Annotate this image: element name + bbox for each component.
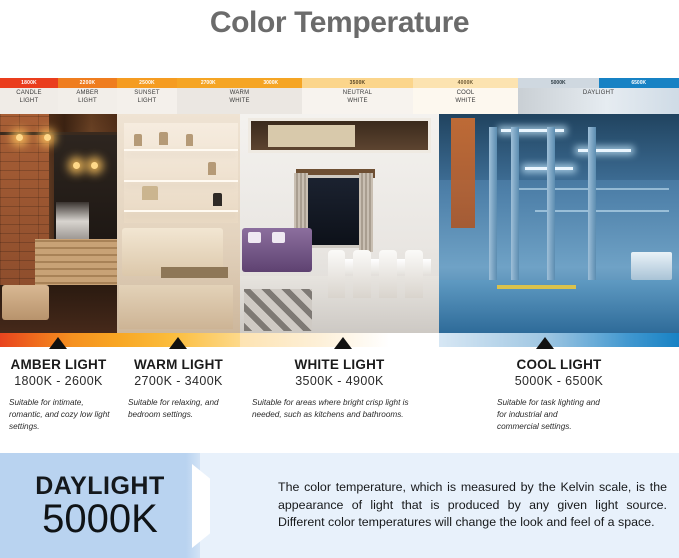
kelvin-segment-candle: 1800K CANDLE LIGHT <box>0 78 58 114</box>
kelvin-label-line2: LIGHT <box>76 98 98 106</box>
title-area: Color Temperature <box>0 0 679 78</box>
kelvin-value-row-warm: 2700K 3000K <box>177 78 302 88</box>
decor-object <box>159 132 168 145</box>
pointer-arrow-white-icon <box>334 337 352 349</box>
pointer-arrow-amber-icon <box>49 337 67 349</box>
leather-sofa <box>2 285 49 320</box>
support-column <box>547 127 555 285</box>
pendant-bulb-icon <box>44 134 51 141</box>
warm-white-lounge-photo <box>117 114 240 333</box>
decor-vase <box>213 193 222 206</box>
cushion <box>248 232 261 243</box>
kelvin-label-sunset: SUNSET LIGHT <box>117 88 177 114</box>
support-column <box>588 127 596 285</box>
warehouse-roof <box>439 114 679 180</box>
kelvin-segment-daylight: 5000K 6500K DAYLIGHT <box>518 78 679 114</box>
kelvin-value-2500k: 2500K <box>117 78 177 88</box>
gradient-segment-white <box>240 333 439 347</box>
kelvin-scale-strip: 1800K CANDLE LIGHT 2200K AMBER LIGHT 250… <box>0 78 679 114</box>
kelvin-label-line1: DAYLIGHT <box>583 90 614 98</box>
daylight-banner-left: DAYLIGHT 5000K <box>0 453 200 558</box>
infographic-page: Color Temperature 1800K CANDLE LIGHT 220… <box>0 0 679 558</box>
kelvin-label-line1: WARM <box>229 90 249 98</box>
category-title: WHITE LIGHT <box>240 357 439 373</box>
kelvin-label-line2: WHITE <box>455 98 475 106</box>
shelf <box>124 210 237 212</box>
decor-object <box>134 134 142 146</box>
category-description: Suitable for relaxing, and bedroom setti… <box>117 397 240 422</box>
kelvin-label-warm-white: WARM WHITE <box>177 88 302 114</box>
kelvin-value-3000k: 3000K <box>240 78 303 88</box>
kelvin-segment-sunset: 2500K SUNSET LIGHT <box>117 78 177 114</box>
dining-chair <box>405 250 423 298</box>
category-warm-light: WARM LIGHT 2700K - 3400K Suitable for re… <box>117 357 240 453</box>
support-column <box>511 127 519 285</box>
ceiling-inlay <box>268 125 356 147</box>
category-title: AMBER LIGHT <box>0 357 117 373</box>
kelvin-segment-amber: 2200K AMBER LIGHT <box>58 78 117 114</box>
night-window <box>304 175 364 247</box>
dining-chair <box>328 250 346 298</box>
dining-chair <box>379 250 397 298</box>
kelvin-label-line2: WHITE <box>229 98 249 106</box>
kelvin-label-line1: SUNSET <box>134 90 160 98</box>
category-title: WARM LIGHT <box>117 357 240 373</box>
decor-object <box>186 134 193 146</box>
photo-row <box>0 114 679 333</box>
orange-silo <box>451 118 475 228</box>
pendant-bulb-icon <box>73 162 80 169</box>
kelvin-value-1800k: 1800K <box>0 78 58 88</box>
category-cool-light: COOL LIGHT 5000K - 6500K Suitable for ta… <box>439 357 679 453</box>
kelvin-value-2200k: 2200K <box>58 78 117 88</box>
curtain <box>359 173 373 252</box>
patterned-carpet <box>244 289 312 331</box>
cool-white-warehouse-photo <box>439 114 679 333</box>
neutral-white-living-photo <box>240 114 439 333</box>
category-title: COOL LIGHT <box>439 357 679 373</box>
chevron-right-inner-icon <box>210 464 262 548</box>
category-description: Suitable for areas where bright crisp li… <box>240 397 439 422</box>
support-column <box>489 127 497 285</box>
shelf <box>124 180 237 182</box>
amber-cafe-photo <box>0 114 117 333</box>
category-blocks: AMBER LIGHT 1800K - 2600K Suitable for i… <box>0 347 679 453</box>
temperature-gradient-bar <box>0 333 679 347</box>
kelvin-value-3500k: 3500K <box>302 78 413 88</box>
category-description: Suitable for task lighting and for indus… <box>439 397 679 434</box>
daylight-banner: DAYLIGHT 5000K The color temperature, wh… <box>0 453 679 558</box>
kelvin-label-line1: CANDLE <box>16 90 42 98</box>
rug <box>119 285 232 329</box>
framed-art <box>142 186 158 200</box>
bench-table <box>161 267 227 278</box>
ceiling-beam <box>535 210 669 212</box>
kelvin-label-line1: COOL <box>455 90 475 98</box>
category-range: 1800K - 2600K <box>0 374 117 388</box>
kelvin-label-neutral-white: NEUTRAL WHITE <box>302 88 413 114</box>
kelvin-segment-neutral-white: 3500K NEUTRAL WHITE <box>302 78 413 114</box>
pointer-arrow-warm-icon <box>169 337 187 349</box>
kelvin-label-amber: AMBER LIGHT <box>58 88 117 114</box>
gradient-segment-warm <box>117 333 240 347</box>
dining-chair <box>353 250 371 298</box>
fluorescent-tube <box>578 149 631 152</box>
kelvin-label-daylight: DAYLIGHT <box>518 88 679 114</box>
category-white-light: WHITE LIGHT 3500K - 4900K Suitable for a… <box>240 357 439 453</box>
kelvin-value-2700k: 2700K <box>177 78 240 88</box>
category-range: 3500K - 4900K <box>240 374 439 388</box>
category-description: Suitable for intimate, romantic, and coz… <box>0 397 117 434</box>
delivery-truck <box>631 252 672 280</box>
category-range: 5000K - 6500K <box>439 374 679 388</box>
kelvin-label-line2: WHITE <box>343 98 372 106</box>
kelvin-label-line1: NEUTRAL <box>343 90 372 98</box>
decor-object <box>208 162 216 175</box>
kelvin-label-line1: AMBER <box>76 90 98 98</box>
kelvin-label-line2: LIGHT <box>134 98 160 106</box>
daylight-kelvin: 5000K <box>42 499 158 539</box>
yellow-safety-barrier <box>497 285 576 289</box>
pointer-arrow-cool-icon <box>536 337 554 349</box>
kelvin-segment-warm-white: 2700K 3000K WARM WHITE <box>177 78 302 114</box>
page-title: Color Temperature <box>210 6 469 40</box>
gradient-segment-amber <box>0 333 117 347</box>
daylight-banner-right: The color temperature, which is measured… <box>200 453 679 558</box>
kelvin-segment-cool-white: 4000K COOL WHITE <box>413 78 518 114</box>
kelvin-value-6500k: 6500K <box>599 78 679 88</box>
kelvin-value-row-daylight: 5000K 6500K <box>518 78 679 88</box>
banner-body-text: The color temperature, which is measured… <box>278 479 667 533</box>
category-range: 2700K - 3400K <box>117 374 240 388</box>
kelvin-label-line2: LIGHT <box>16 98 42 106</box>
kelvin-label-candle: CANDLE LIGHT <box>0 88 58 114</box>
shelf <box>124 149 237 151</box>
kelvin-value-5000k: 5000K <box>518 78 599 88</box>
kelvin-value-4000k: 4000K <box>413 78 518 88</box>
cushion <box>272 232 285 243</box>
category-amber-light: AMBER LIGHT 1800K - 2600K Suitable for i… <box>0 357 117 453</box>
kelvin-label-cool-white: COOL WHITE <box>413 88 518 114</box>
gradient-segment-cool <box>439 333 679 347</box>
